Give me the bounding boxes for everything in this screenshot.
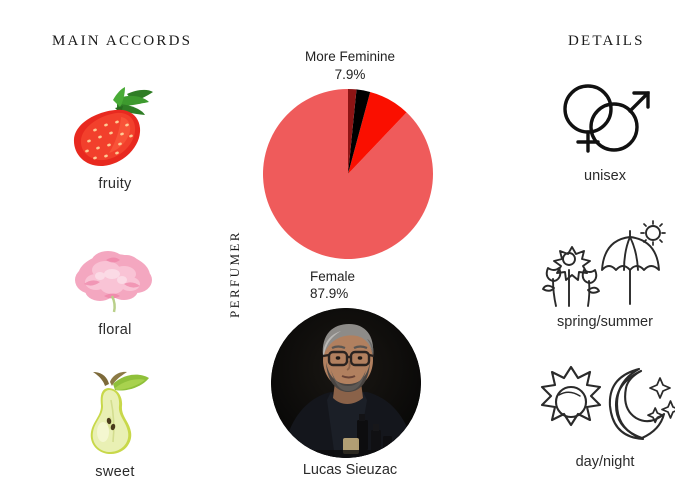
male-female-gender-icon: [520, 72, 690, 164]
pear-icon: [40, 366, 190, 458]
detail-item-season[interactable]: spring/summer: [520, 218, 690, 330]
pie-canvas: [230, 86, 470, 266]
detail-label: day/night: [520, 454, 690, 470]
pie-label-more-feminine: More Feminine 7.9%: [230, 48, 470, 84]
accord-item-sweet[interactable]: sweet: [40, 366, 190, 480]
perfumer-portrait-photo[interactable]: [271, 308, 421, 458]
detail-item-unisex[interactable]: unisex: [520, 72, 690, 184]
accord-item-fruity[interactable]: fruity: [40, 78, 190, 192]
infographic-page: MAIN ACCORDS: [0, 0, 700, 500]
details-heading: DETAILS: [568, 33, 645, 50]
detail-label: unisex: [520, 168, 690, 184]
accord-item-floral[interactable]: floral: [40, 224, 190, 338]
accord-label: fruity: [40, 176, 190, 192]
gender-pie-chart: More Feminine 7.9% Female 87.9%: [230, 48, 470, 303]
perfumer-section-label: PERFUMER: [227, 230, 243, 318]
pie-label-female: Female 87.9%: [230, 268, 470, 304]
detail-item-time-of-day[interactable]: day/night: [520, 358, 690, 470]
main-accords-heading: MAIN ACCORDS: [52, 33, 192, 50]
flowers-umbrella-sun-icon: [520, 218, 690, 310]
accord-label: floral: [40, 322, 190, 338]
accord-label: sweet: [40, 464, 190, 480]
detail-label: spring/summer: [520, 314, 690, 330]
sun-moon-icon: [520, 358, 690, 450]
strawberry-icon: [40, 78, 190, 170]
carnation-flower-icon: [40, 224, 190, 316]
pie-slices: [230, 86, 470, 266]
perfumer-name: Lucas Sieuzac: [230, 462, 470, 478]
